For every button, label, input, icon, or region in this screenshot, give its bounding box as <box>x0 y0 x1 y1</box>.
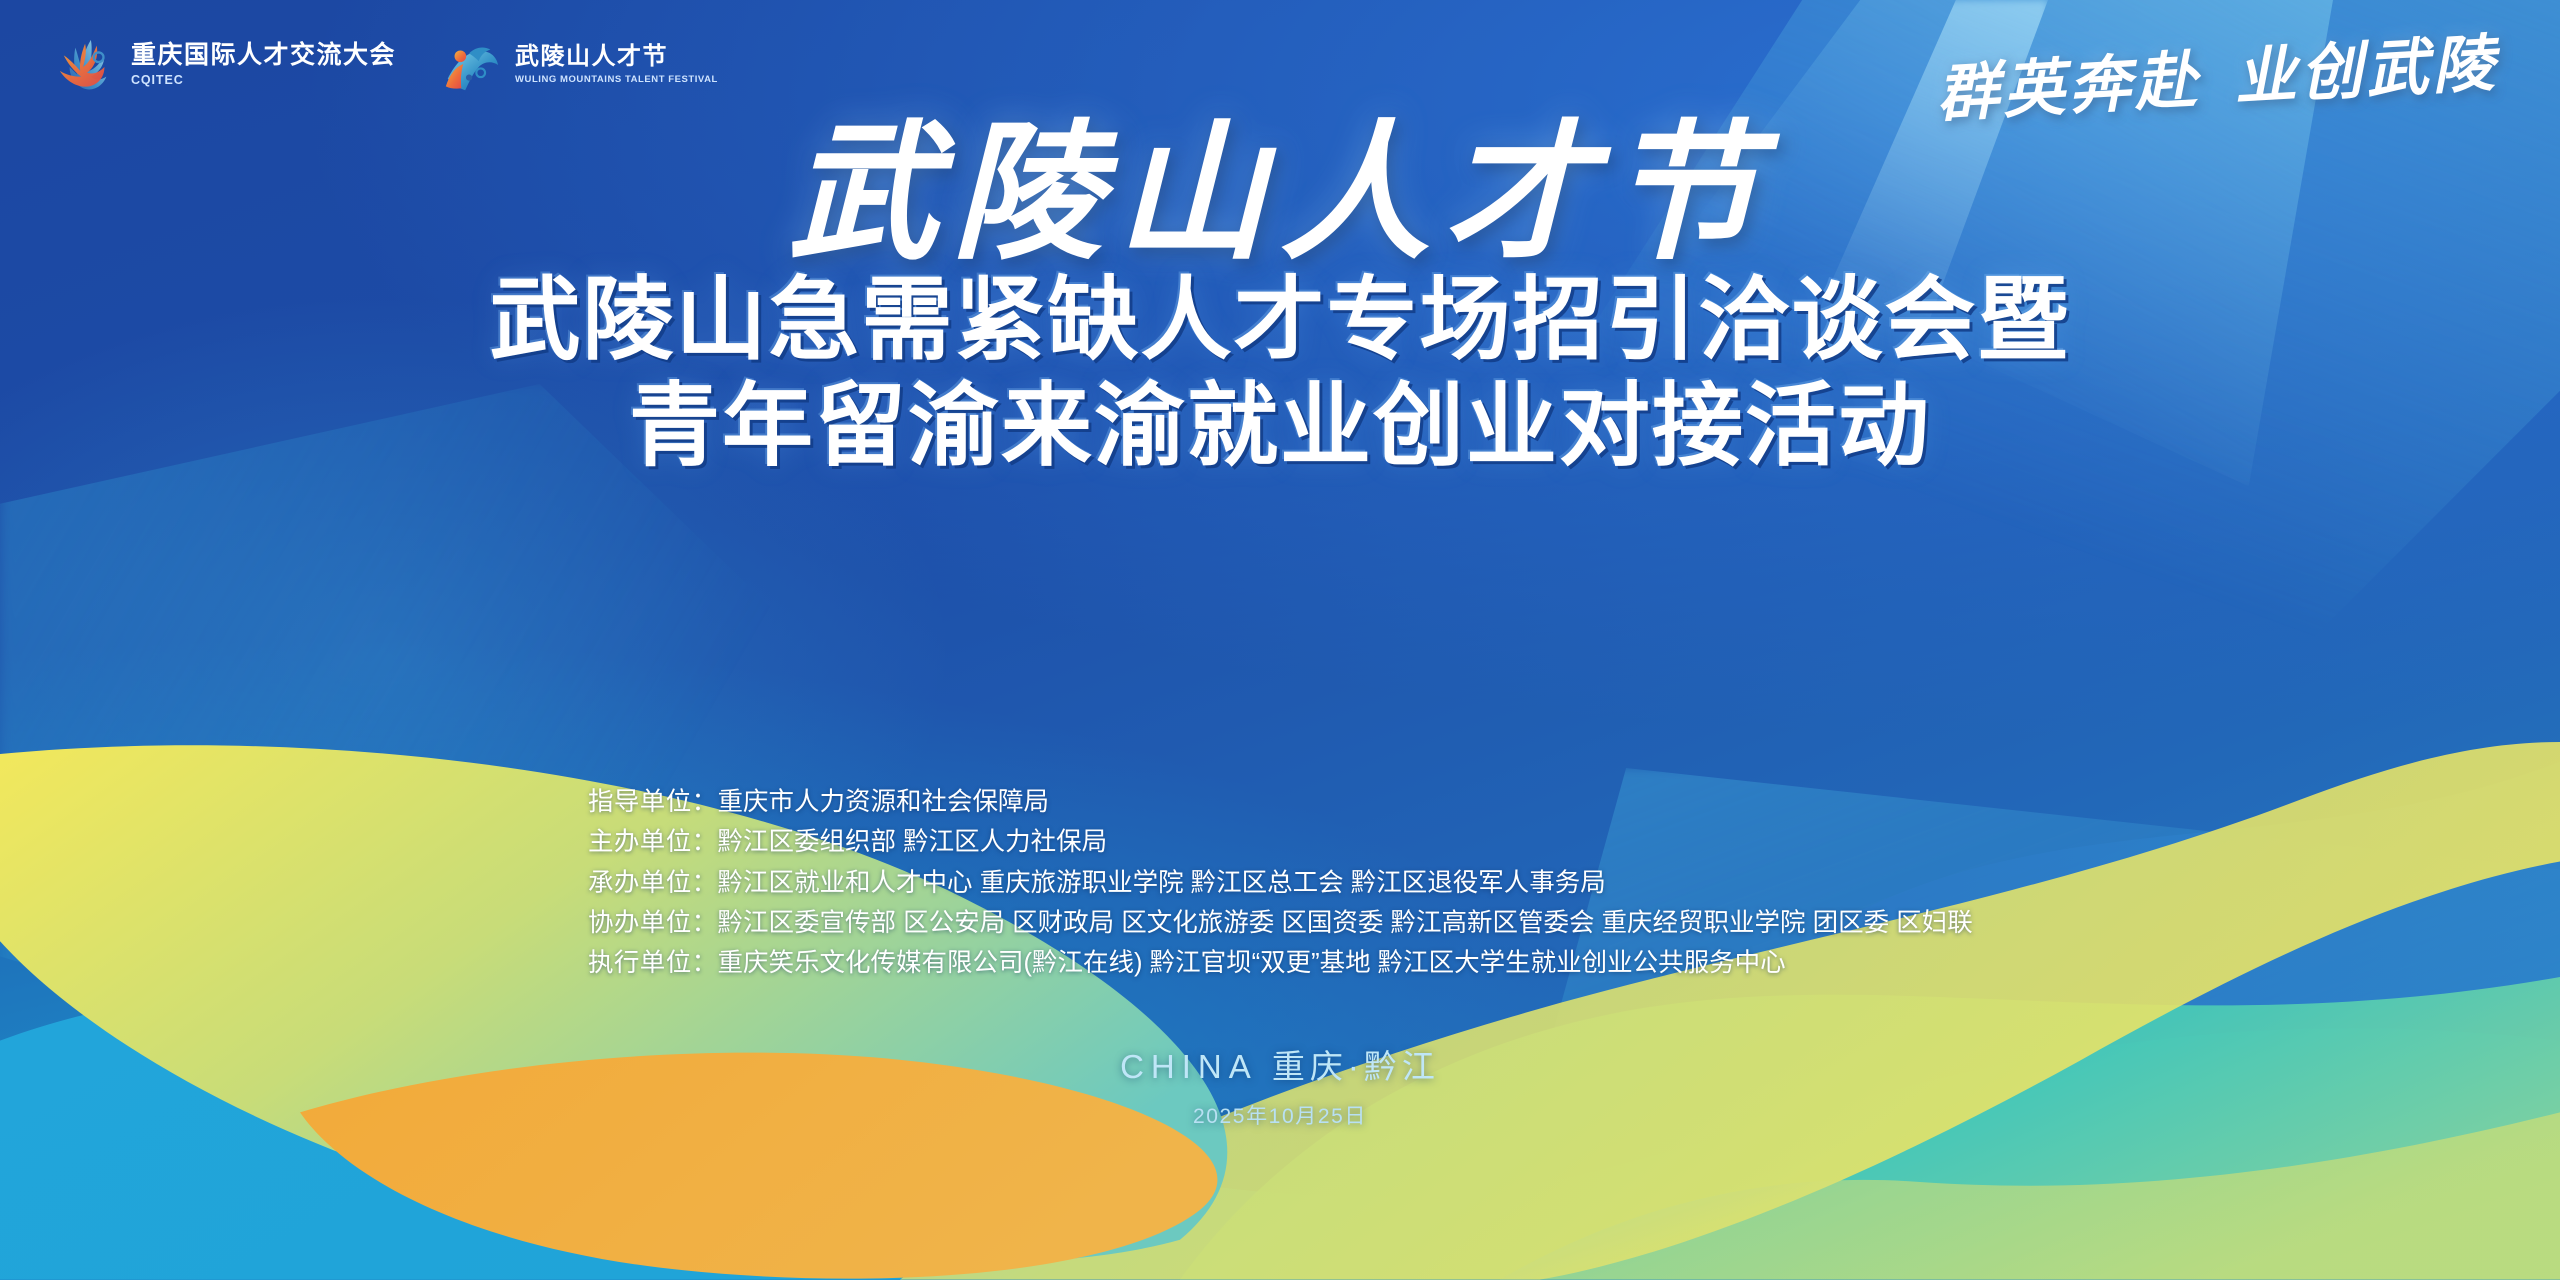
logo-wuling-cn: 武陵山人才节 <box>515 45 718 69</box>
phoenix-bird-mark-icon <box>56 34 118 96</box>
slogan-part-1: 群英奔赴 <box>1935 43 2203 131</box>
organizer-label: 指导单位： <box>588 788 718 816</box>
organizer-value: 黔江区委宣传部 区公安局 区财政局 区文化旅游委 区国资委 黔江高新区管委会 重… <box>718 909 1973 937</box>
organizer-value: 黔江区委组织部 黔江区人力社保局 <box>718 828 1108 856</box>
main-title: 武陵山人才节 <box>0 118 2560 268</box>
subtitle-line-1: 武陵山急需紧缺人才专场招引洽谈会暨 <box>0 268 2560 374</box>
logo-cqitec[interactable]: 重庆国际人才交流大会 CQITEC <box>56 34 396 96</box>
organizer-row: 主办单位：黔江区委组织部 黔江区人力社保局 <box>588 822 1973 862</box>
logo-cqitec-cn: 重庆国际人才交流大会 <box>131 43 396 68</box>
organizer-value: 重庆笑乐文化传媒有限公司(黔江在线) 黔江官坝“双更”基地 黔江区大学生就业创业… <box>718 949 1786 977</box>
logo-wuling[interactable]: 武陵山人才节 WULING MOUNTAINS TALENT FESTIVAL <box>440 34 718 96</box>
mountain-figure-mark-icon <box>440 34 502 96</box>
logo-cqitec-text: 重庆国际人才交流大会 CQITEC <box>131 43 396 87</box>
organizer-label: 主办单位： <box>588 828 718 856</box>
organizer-label: 承办单位： <box>588 869 718 897</box>
footer-date: 2025年10月25日 <box>0 1100 2560 1130</box>
logo-row: 重庆国际人才交流大会 CQITEC <box>56 34 718 96</box>
organizer-label: 协办单位： <box>588 909 718 937</box>
slogan-part-2: 业创武陵 <box>2232 26 2500 114</box>
organizer-list: 指导单位：重庆市人力资源和社会保障局 主办单位：黔江区委组织部 黔江区人力社保局… <box>588 782 1973 983</box>
logo-wuling-en: WULING MOUNTAINS TALENT FESTIVAL <box>515 75 718 85</box>
logo-wuling-text: 武陵山人才节 WULING MOUNTAINS TALENT FESTIVAL <box>515 45 718 85</box>
subtitle: 武陵山急需紧缺人才专场招引洽谈会暨 青年留渝来渝就业创业对接活动 <box>0 268 2560 479</box>
footer: CHINA 重庆·黔江 2025年10月25日 <box>0 1040 2560 1130</box>
event-banner: 重庆国际人才交流大会 CQITEC <box>0 0 2560 1280</box>
organizer-label: 执行单位： <box>588 949 718 977</box>
subtitle-line-2: 青年留渝来渝就业创业对接活动 <box>0 374 2560 480</box>
organizer-value: 重庆市人力资源和社会保障局 <box>718 788 1050 816</box>
footer-location-cn: 重庆·黔江 <box>1272 1048 1440 1085</box>
footer-location-en: CHINA <box>1120 1048 1258 1085</box>
organizer-row: 指导单位：重庆市人力资源和社会保障局 <box>588 782 1973 822</box>
organizer-row: 协办单位：黔江区委宣传部 区公安局 区财政局 区文化旅游委 区国资委 黔江高新区… <box>588 903 1973 943</box>
organizer-row: 承办单位：黔江区就业和人才中心 重庆旅游职业学院 黔江区总工会 黔江区退役军人事… <box>588 863 1973 903</box>
organizer-value: 黔江区就业和人才中心 重庆旅游职业学院 黔江区总工会 黔江区退役军人事务局 <box>718 869 1606 897</box>
footer-location: CHINA 重庆·黔江 <box>0 1040 2560 1088</box>
logo-cqitec-en: CQITEC <box>131 74 396 87</box>
organizer-row: 执行单位：重庆笑乐文化传媒有限公司(黔江在线) 黔江官坝“双更”基地 黔江区大学… <box>588 943 1973 983</box>
